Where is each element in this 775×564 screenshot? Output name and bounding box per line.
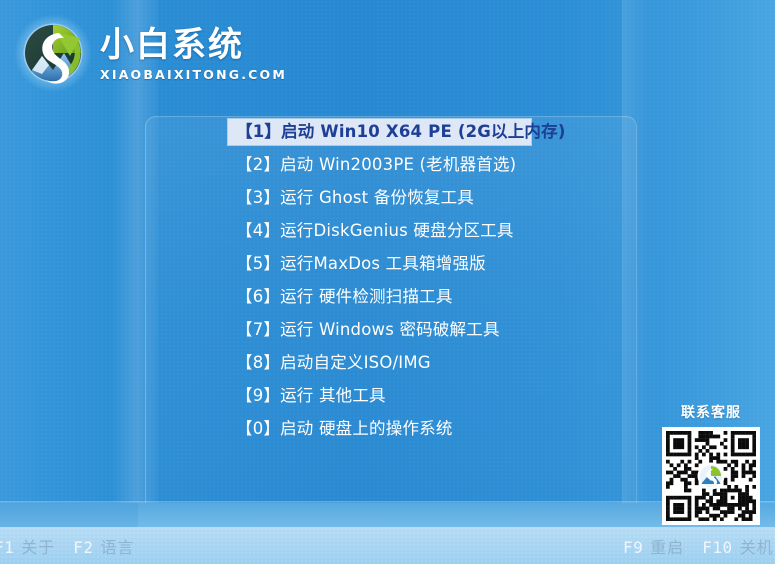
function-key-f10-label[interactable]: 关机 (740, 534, 774, 558)
boot-menu-item-3[interactable]: 【3】运行 Ghost 备份恢复工具 (228, 185, 628, 211)
function-key-f1[interactable]: F1 (0, 538, 14, 557)
boot-menu-screen: 小白系统 XIAOBAIXITONG.COM 【1】启动 Win10 X64 P… (0, 0, 775, 564)
contact-service-label: 联系客服 (652, 402, 770, 422)
function-key-f2[interactable]: F2 (73, 538, 93, 557)
brand-wordmark: 小白系统 XIAOBAIXITONG.COM (100, 26, 270, 82)
xiaobai-circular-logo-icon (12, 12, 94, 94)
function-key-f9-label[interactable]: 重启 (650, 534, 684, 558)
boot-menu-item-5[interactable]: 【5】运行MaxDos 工具箱增强版 (228, 251, 628, 277)
stage-left-face (0, 503, 138, 528)
boot-menu-item-9[interactable]: 【9】运行 其他工具 (228, 383, 628, 409)
boot-menu-list: 【1】启动 Win10 X64 PE (2G以上内存)【2】启动 Win2003… (228, 119, 628, 449)
boot-menu-item-label: 【9】运行 其他工具 (236, 383, 386, 409)
boot-menu-item-label: 【5】运行MaxDos 工具箱增强版 (236, 251, 486, 277)
function-key-f2-label[interactable]: 语言 (101, 534, 135, 558)
boot-menu-item-8[interactable]: 【8】启动自定义ISO/IMG (228, 350, 628, 376)
boot-menu-item-label: 【1】启动 Win10 X64 PE (2G以上内存) (236, 119, 566, 145)
function-key-f10[interactable]: F10 (702, 538, 732, 557)
boot-menu-item-label: 【7】运行 Windows 密码破解工具 (236, 317, 500, 343)
function-keys-right: F9重启F10关机 (623, 534, 774, 558)
boot-menu-item-6[interactable]: 【6】运行 硬件检测扫描工具 (228, 284, 628, 310)
boot-menu-item-10[interactable]: 【0】启动 硬盘上的操作系统 (228, 416, 628, 442)
function-keys-left: F1关于F2语言 (0, 534, 135, 558)
brand-name-cn: 小白系统 (100, 26, 270, 64)
boot-menu-item-label: 【0】启动 硬盘上的操作系统 (236, 416, 453, 442)
boot-menu-item-4[interactable]: 【4】运行DiskGenius 硬盘分区工具 (228, 218, 628, 244)
boot-menu-item-2[interactable]: 【2】启动 Win2003PE (老机器首选) (228, 152, 628, 178)
boot-menu-item-label: 【2】启动 Win2003PE (老机器首选) (236, 152, 516, 178)
boot-menu-item-7[interactable]: 【7】运行 Windows 密码破解工具 (228, 317, 628, 343)
qr-code-icon (662, 427, 760, 525)
brand-logo: 小白系统 XIAOBAIXITONG.COM (12, 10, 264, 94)
function-key-f1-label[interactable]: 关于 (21, 534, 55, 558)
boot-menu-item-label: 【6】运行 硬件检测扫描工具 (236, 284, 453, 310)
boot-menu-item-label: 【8】启动自定义ISO/IMG (236, 350, 431, 376)
boot-menu-item-1[interactable]: 【1】启动 Win10 X64 PE (2G以上内存) (228, 119, 531, 145)
boot-menu-item-label: 【3】运行 Ghost 备份恢复工具 (236, 185, 474, 211)
contact-service-block: 联系客服 (652, 402, 770, 525)
brand-url: XIAOBAIXITONG.COM (100, 67, 270, 82)
boot-menu-item-label: 【4】运行DiskGenius 硬盘分区工具 (236, 218, 514, 244)
qr-center-logo-icon (699, 464, 723, 488)
function-key-f9[interactable]: F9 (623, 538, 643, 557)
